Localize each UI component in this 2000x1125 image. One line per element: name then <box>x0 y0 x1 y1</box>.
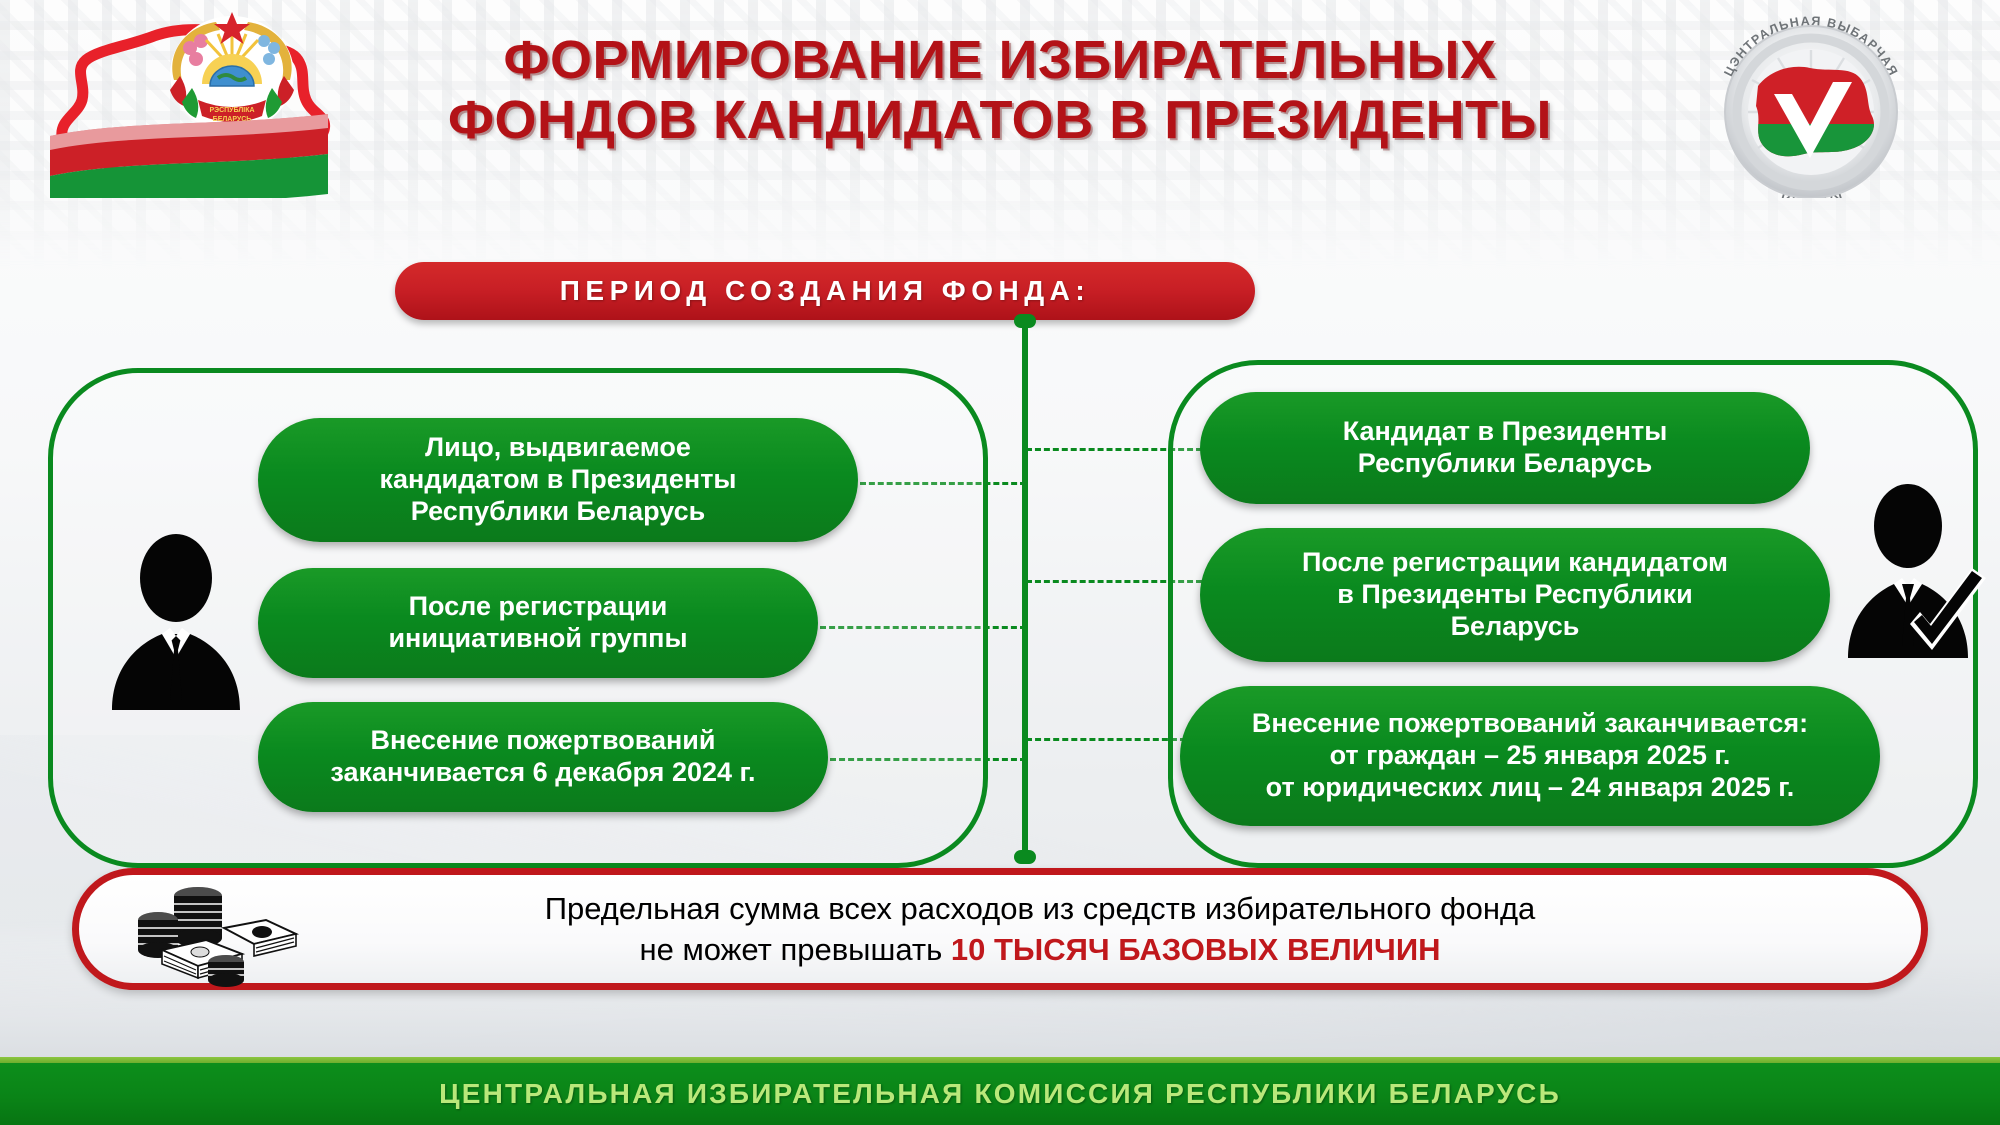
banner-label: ПЕРИОД СОЗДАНИЯ ФОНДА: <box>560 275 1090 307</box>
left-pill-2: После регистрации инициативной группы <box>258 568 818 678</box>
left-pill-1: Лицо, выдвигаемое кандидатом в Президент… <box>258 418 858 542</box>
spending-limit-highlight: 10 ТЫСЯЧ БАЗОВЫХ ВЕЛИЧИН <box>951 932 1441 967</box>
right-pill-3-text: Внесение пожертвований заканчивается: от… <box>1252 708 1808 804</box>
connector-dash-right-3 <box>1026 738 1186 741</box>
left-pill-1-text: Лицо, выдвигаемое кандидатом в Президент… <box>380 432 737 528</box>
infographic-poster: РЭСПУБЛІКА БЕЛАРУСЬ ФОРМИРОВАНИЕ ИЗБИРАТ… <box>0 0 2000 1125</box>
person-verified-silhouette-icon <box>1836 480 2000 660</box>
page-title: ФОРМИРОВАНИЕ ИЗБИРАТЕЛЬНЫХ ФОНДОВ КАНДИД… <box>380 30 1620 151</box>
connector-stem-bottom-dot <box>1014 850 1036 864</box>
money-stacks-icon <box>136 884 306 988</box>
title-line-1: ФОРМИРОВАНИЕ ИЗБИРАТЕЛЬНЫХ <box>503 30 1496 90</box>
person-silhouette-icon <box>96 530 256 710</box>
belarus-state-emblem: РЭСПУБЛІКА БЕЛАРУСЬ <box>36 8 336 198</box>
title-line-2: ФОНДОВ КАНДИДАТОВ В ПРЕЗИДЕНТЫ <box>380 90 1620 150</box>
spending-limit-line-1: Предельная сумма всех расходов из средст… <box>545 889 1536 930</box>
right-pill-1: Кандидат в Президенты Республики Беларус… <box>1200 392 1810 504</box>
spending-limit-text: Предельная сумма всех расходов из средст… <box>330 884 1750 976</box>
cec-seal-logo: ЦЭНТРАЛЬНАЯ ВЫБАРЧАЯ КАМІСІЯ <box>1700 8 1922 198</box>
svg-text:РЭСПУБЛІКА: РЭСПУБЛІКА <box>209 107 254 114</box>
left-pill-3: Внесение пожертвований заканчивается 6 д… <box>258 702 828 812</box>
right-pill-1-text: Кандидат в Президенты Республики Беларус… <box>1343 416 1668 480</box>
right-pill-3: Внесение пожертвований заканчивается: от… <box>1180 686 1880 826</box>
spending-limit-line-2: не может превышать 10 ТЫСЯЧ БАЗОВЫХ ВЕЛИ… <box>640 930 1441 971</box>
spending-limit-prefix: не может превышать <box>640 932 951 967</box>
fund-creation-period-banner: ПЕРИОД СОЗДАНИЯ ФОНДА: <box>395 262 1255 320</box>
footer-text: ЦЕНТРАЛЬНАЯ ИЗБИРАТЕЛЬНАЯ КОМИССИЯ РЕСПУ… <box>439 1078 1561 1110</box>
right-pill-2-text: После регистрации кандидатом в Президент… <box>1302 547 1728 643</box>
footer-bar: ЦЕНТРАЛЬНАЯ ИЗБИРАТЕЛЬНАЯ КОМИССИЯ РЕСПУ… <box>0 1063 2000 1125</box>
left-pill-3-text: Внесение пожертвований заканчивается 6 д… <box>330 725 755 789</box>
right-pill-2: После регистрации кандидатом в Президент… <box>1200 528 1830 662</box>
left-pill-2-text: После регистрации инициативной группы <box>388 591 687 655</box>
connector-stem <box>1022 318 1028 858</box>
